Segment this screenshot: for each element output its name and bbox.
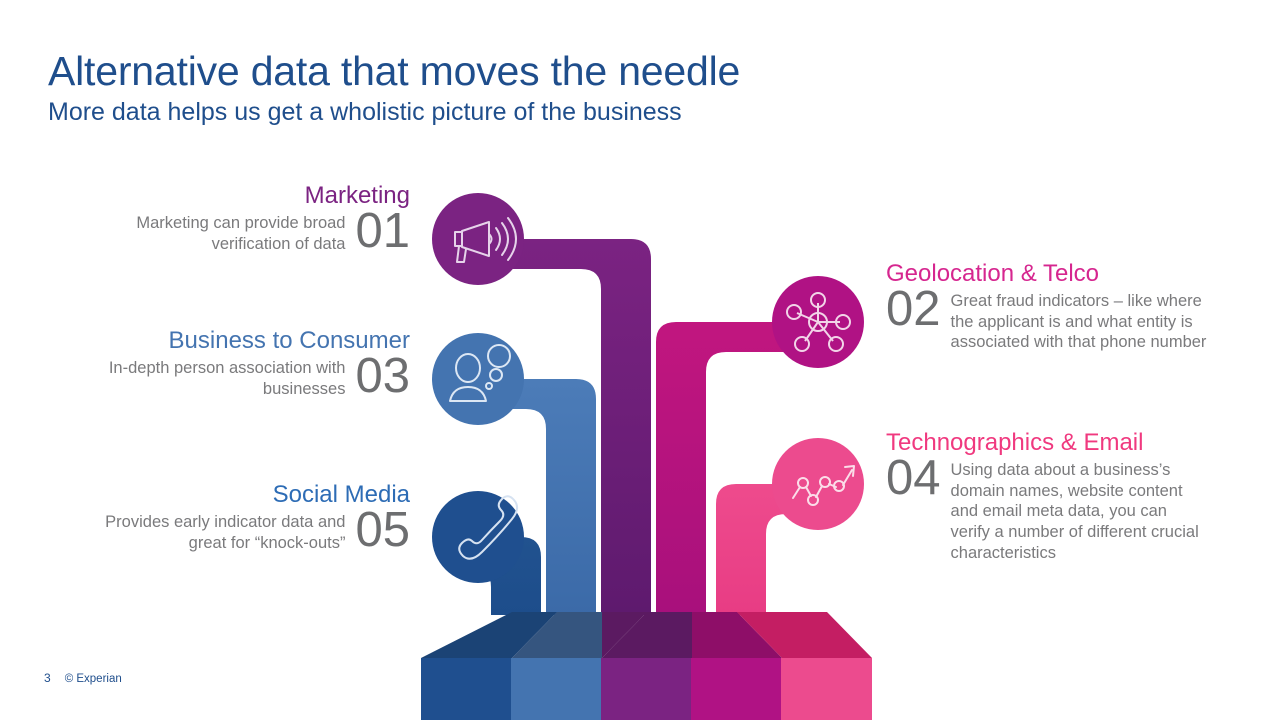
slide-footer: 3 © Experian — [44, 671, 122, 685]
person-thought-bubbles-icon — [450, 345, 510, 401]
page-number: 3 — [44, 671, 51, 685]
item-body-social-media: Provides early indicator data and great … — [76, 508, 410, 554]
pipe-marketing — [490, 239, 651, 615]
item-description-geolocation: Great fraud indicators – like where the … — [951, 287, 1213, 353]
item-body-geolocation: 02 Great fraud indicators – like where t… — [886, 287, 1238, 353]
icon-circle-social-media[interactable] — [432, 491, 524, 583]
icon-circle-technographics[interactable] — [772, 438, 864, 530]
icon-circle-geolocation[interactable] — [772, 276, 864, 368]
item-number-technographics: 04 — [886, 456, 941, 501]
item-block-social-media: Social Media Provides early indicator da… — [76, 482, 410, 553]
item-number-b2c: 03 — [355, 354, 410, 399]
item-description-b2c: In-depth person association with busines… — [89, 354, 345, 400]
item-number-marketing: 01 — [355, 209, 410, 254]
item-body-marketing: Marketing can provide broad verification… — [76, 209, 410, 255]
item-block-technographics: Technographics & Email 04 Using data abo… — [886, 430, 1238, 564]
item-description-marketing: Marketing can provide broad verification… — [89, 209, 345, 255]
item-body-b2c: In-depth person association with busines… — [76, 354, 410, 400]
item-number-social-media: 05 — [355, 508, 410, 553]
icon-circle-marketing[interactable] — [432, 193, 524, 285]
item-number-geolocation: 02 — [886, 287, 941, 332]
item-body-technographics: 04 Using data about a business’s domain … — [886, 456, 1238, 564]
item-block-b2c: Business to Consumer In-depth person ass… — [76, 328, 410, 399]
item-block-marketing: Marketing Marketing can provide broad ve… — [76, 183, 410, 254]
phone-handset-icon — [459, 496, 517, 558]
network-nodes-icon — [787, 293, 850, 351]
copyright-notice: © Experian — [65, 673, 122, 685]
pipe-technographics — [716, 484, 806, 615]
pipe-b2c — [490, 379, 596, 615]
pedestal-base — [421, 658, 872, 720]
icon-circle-b2c[interactable] — [432, 333, 524, 425]
pipe-geolocation — [656, 322, 806, 615]
pedestal-top — [421, 612, 872, 658]
slide-header: Alternative data that moves the needle M… — [48, 50, 1048, 128]
page-subtitle: More data helps us get a wholistic pictu… — [48, 97, 1048, 128]
page-title: Alternative data that moves the needle — [48, 50, 1048, 93]
megaphone-icon — [455, 218, 516, 262]
trend-chart-icon — [793, 466, 854, 505]
slide-canvas: Alternative data that moves the needle M… — [0, 0, 1280, 720]
item-description-social-media: Provides early indicator data and great … — [89, 508, 345, 554]
item-block-geolocation: Geolocation & Telco 02 Great fraud indic… — [886, 261, 1238, 353]
item-description-technographics: Using data about a business’s domain nam… — [951, 456, 1201, 564]
pipe-social-media — [471, 537, 541, 615]
